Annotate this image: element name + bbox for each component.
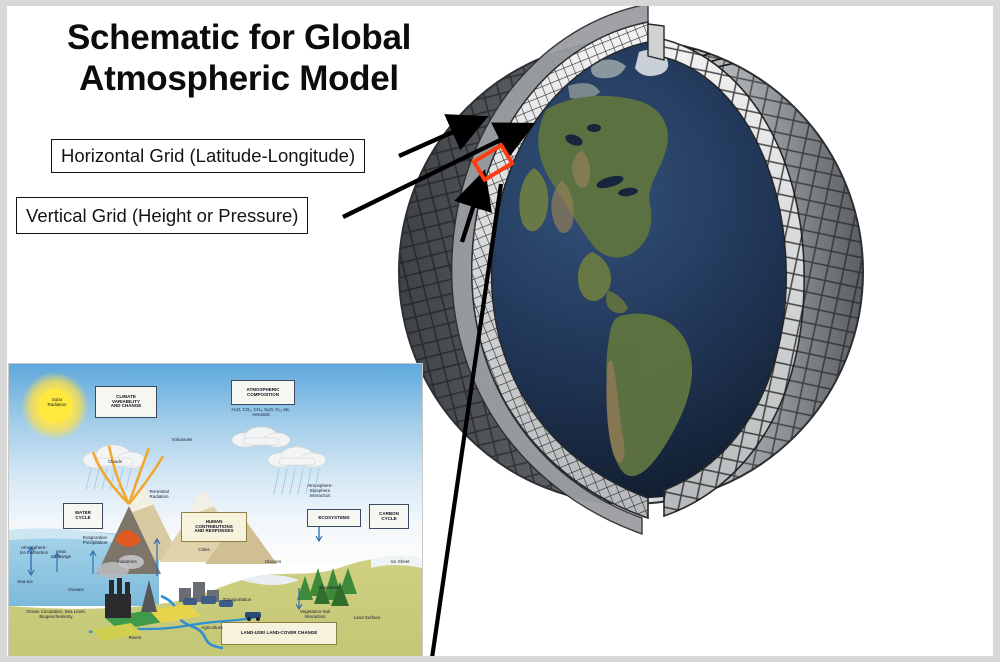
callout-horizontal-grid[interactable]: Horizontal Grid (Latitude-Longitude)	[51, 139, 365, 173]
inset-box-atmospheric-composition: ATMOSPHERIC COMPOSITION	[231, 380, 295, 405]
callout-vertical-grid[interactable]: Vertical Grid (Height or Pressure)	[16, 197, 308, 234]
inset-label-ice-sheet: Ice Sheet	[383, 560, 417, 565]
inset-label-sea-ice: Sea-Ice	[11, 580, 39, 585]
inset-label-volcanoes: Volcanoes	[159, 438, 205, 443]
global-atmospheric-model-globe	[396, 6, 866, 550]
inset-box-carbon-cycle: CARBON CYCLE	[369, 504, 409, 529]
title-line-2: Atmospheric Model	[24, 59, 454, 100]
inset-label-heat-exchange: Heat Exchange	[47, 550, 75, 560]
inset-box-water-cycle: WATER CYCLE	[63, 503, 103, 529]
title-line-1: Schematic for Global	[67, 18, 411, 57]
inset-label-glaciers: Glaciers	[257, 560, 289, 565]
inset-label-industries: Industries	[109, 560, 145, 565]
rain-lines	[86, 468, 319, 494]
inset-label-cities: Cities	[191, 548, 217, 553]
inset-box-climate-variability: CLIMATE VARIABILITY AND CHANGE	[95, 386, 157, 418]
inset-box-human-contributions: HUMAN CONTRIBUTIONS AND RESPONSES	[181, 512, 247, 542]
inset-label-composition-species: H₂O, CO₂, CH₄, N₂O, O₃, etc. Aerosols	[215, 408, 307, 418]
inset-label-clouds: Clouds	[97, 460, 133, 465]
inset-label-rivers: Rivers	[121, 636, 149, 641]
inset-label-land-surface: Land Surface	[345, 616, 389, 621]
inset-box-ecosystems: ECOSYSTEMS	[307, 509, 361, 527]
slide-canvas: Schematic for Global Atmospheric Model	[7, 6, 993, 656]
inset-label-atmosphere-biosphere: Atmosphere- Biosphere Interaction	[297, 484, 343, 499]
inset-label-vegetation: Vegetation	[309, 586, 349, 591]
page-title: Schematic for Global Atmospheric Model	[24, 18, 454, 100]
inset-label-vegetation-soil: Vegetation-Soil Interaction	[287, 610, 343, 620]
inset-label-agriculture: Agriculture	[195, 626, 229, 631]
inset-label-terrestrial-radiation: Terrestrial Radiation	[137, 490, 181, 500]
inset-label-solar-radiation: Solar Radiation	[35, 398, 79, 408]
inset-label-evaporation: Evaporation Precipitation	[71, 536, 119, 546]
inset-label-ocean-circulation: Ocean Circulation, Sea Level, Biogeochem…	[13, 610, 99, 620]
inset-box-land-use-change: LAND-USE/ LAND-COVER CHANGE	[221, 622, 337, 645]
climate-system-inset: CLIMATE VARIABILITY AND CHANGE ATMOSPHER…	[8, 363, 423, 656]
inset-label-oceans: Oceans	[61, 588, 91, 593]
inset-label-transportation: Transportation	[215, 598, 259, 603]
